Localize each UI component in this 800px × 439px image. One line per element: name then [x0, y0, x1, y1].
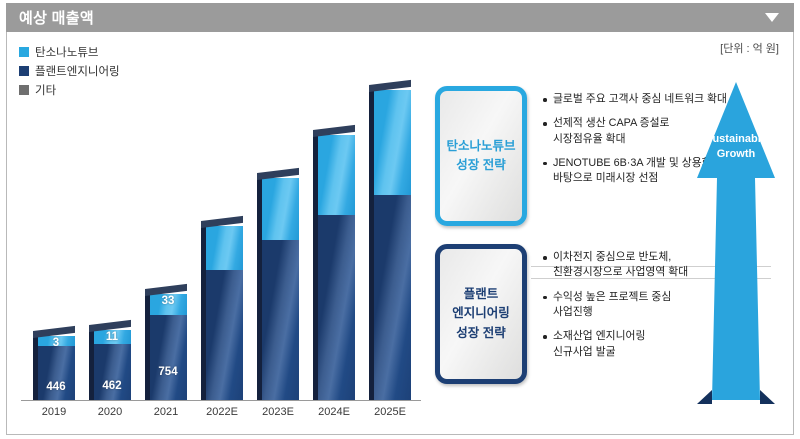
panel-plant-strategy: 플랜트 엔지니어링 성장 전략 이차전지 중심으로 반도체, 친환경시장으로 사…	[435, 244, 735, 384]
segment-plant	[317, 215, 355, 400]
bar-left-edge	[145, 294, 150, 400]
bullet-item: 소재산업 엔지니어링 신규사업 발굴	[543, 329, 688, 360]
bar-2021[interactable]: 75433	[145, 294, 187, 400]
arrow-body	[697, 82, 775, 400]
x-axis-line	[21, 400, 421, 401]
cnt-strategy-box-line-2: 성장 전략	[456, 156, 505, 175]
cnt-strategy-box[interactable]: 탄소나노튜브 성장 전략	[435, 86, 527, 226]
bar-value-label-cnt: 33	[149, 295, 187, 307]
segment-cnt	[205, 226, 243, 270]
cnt-strategy-box-line-1: 탄소나노튜브	[446, 137, 515, 156]
bar-left-edge	[313, 135, 318, 400]
tick-label-2024E: 2024E	[306, 406, 362, 418]
title-bar: 예상 매출액	[6, 3, 794, 32]
bar-2022E[interactable]	[201, 226, 243, 400]
bar-2024E[interactable]	[313, 135, 355, 400]
bar-2025E[interactable]	[369, 90, 411, 400]
plant-strategy-box-line-2: 엔지니어링	[452, 304, 510, 323]
segment-cnt	[373, 90, 411, 195]
plant-strategy-box-line-1: 플랜트	[464, 285, 499, 304]
chevron-down-icon[interactable]	[765, 13, 779, 22]
bar-value-label-cnt: 11	[93, 331, 131, 343]
content-frame: 탄소나노튜브 플랜트엔지니어링 기타 [단위 : 억 원] 4463462117…	[6, 32, 794, 435]
plant-strategy-box-line-3: 성장 전략	[456, 324, 505, 343]
bar-left-edge	[257, 178, 262, 400]
tick-label-2019: 2019	[26, 406, 82, 418]
page-title: 예상 매출액	[19, 7, 94, 28]
panel-cnt-strategy: 탄소나노튜브 성장 전략 글로벌 주요 고객사 중심 네트워크 확대 선제적 생…	[435, 86, 735, 226]
slide-root: 예상 매출액 탄소나노튜브 플랜트엔지니어링 기타 [단위 : 억 원] 446…	[0, 0, 800, 439]
bar-left-edge	[201, 226, 206, 400]
segment-cnt	[261, 178, 299, 240]
segment-plant	[149, 315, 187, 400]
bar-2019[interactable]: 4463	[33, 336, 75, 400]
segment-plant	[373, 195, 411, 400]
bar-body: 4463	[33, 336, 75, 400]
tick-label-2020: 2020	[82, 406, 138, 418]
tick-label-2022E: 2022E	[194, 406, 250, 418]
bar-body	[369, 90, 411, 400]
tick-label-2025E: 2025E	[362, 406, 418, 418]
bar-body: 75433	[145, 294, 187, 400]
bar-value-label-plant: 754	[149, 366, 187, 378]
bar-2023E[interactable]	[257, 178, 299, 400]
arrow-foot-left	[697, 390, 712, 404]
bar-left-edge	[369, 90, 374, 400]
segment-plant	[205, 270, 243, 400]
bar-chart: 44634621175433 2019202020212022E2023E202…	[7, 32, 427, 435]
bar-body	[201, 226, 243, 400]
bar-2020[interactable]: 46211	[89, 330, 131, 400]
sustainable-growth-arrow: Sustainable Growth	[693, 80, 779, 420]
segment-plant	[261, 240, 299, 400]
tick-label-2023E: 2023E	[250, 406, 306, 418]
strategy-panels: 탄소나노튜브 성장 전략 글로벌 주요 고객사 중심 네트워크 확대 선제적 생…	[427, 32, 795, 435]
bar-value-label-plant: 462	[93, 380, 131, 392]
bar-body	[313, 135, 355, 400]
plant-strategy-bullets: 이차전지 중심으로 반도체, 친환경시장으로 사업영역 확대 수익성 높은 프로…	[543, 244, 688, 369]
bullet-item: 수익성 높은 프로젝트 중심 사업진행	[543, 290, 688, 321]
tick-label-2021: 2021	[138, 406, 194, 418]
bar-value-label-cnt: 3	[37, 337, 75, 349]
plant-strategy-box[interactable]: 플랜트 엔지니어링 성장 전략	[435, 244, 527, 384]
bar-body	[257, 178, 299, 400]
bar-body: 46211	[89, 330, 131, 400]
bullet-item: 이차전지 중심으로 반도체, 친환경시장으로 사업영역 확대	[543, 250, 688, 281]
up-arrow-icon	[693, 80, 779, 420]
segment-cnt	[317, 135, 355, 215]
bar-value-label-plant: 446	[37, 381, 75, 393]
arrow-foot-right	[760, 390, 775, 404]
